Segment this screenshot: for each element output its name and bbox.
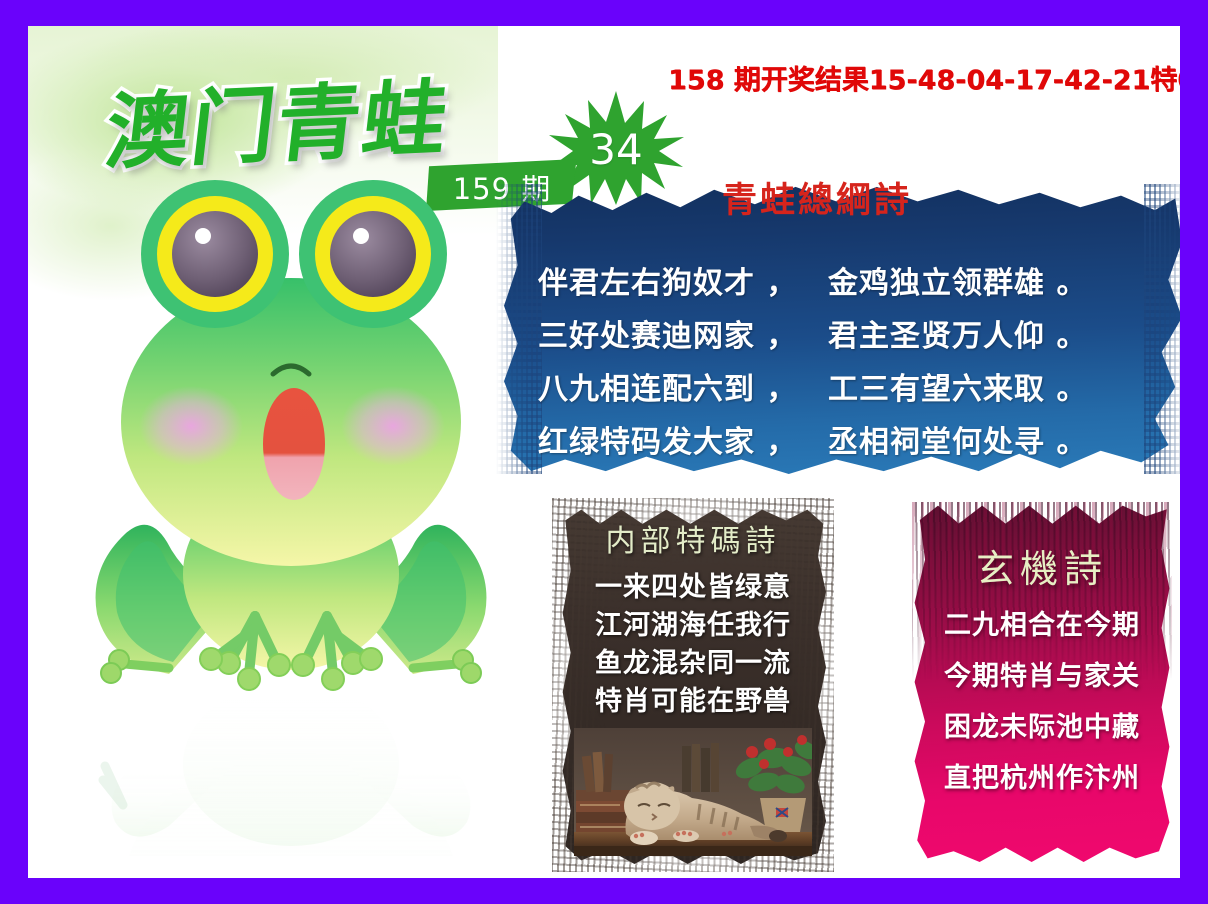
page-title: 澳门青蛙 (100, 51, 456, 186)
mystery-poem-panel: 玄機詩 二九相合在今期 今期特肖与家关 困龙未际池中藏 直把杭州作汴州 (896, 492, 1180, 878)
poem-line: 今期特肖与家关 (896, 651, 1180, 702)
poem-line: 鱼龙混杂同一流 (546, 645, 840, 683)
verse-row: 三好处赛迪网家 ， 君主圣贤万人仰 。 (538, 311, 1158, 355)
blue-panel-title: 青蛙總綱詩 (722, 172, 912, 223)
poem-line: 特肖可能在野兽 (546, 683, 840, 721)
poster-root: 158 期开奖结果15-48-04-17-42-21特05牛 澳门青蛙 34 1… (0, 0, 1208, 904)
verse-left: 八九相连配六到 ， (538, 364, 828, 408)
verse-row: 八九相连配六到 ， 工三有望六来取 。 (538, 364, 1158, 408)
poster-canvas: 158 期开奖结果15-48-04-17-42-21特05牛 澳门青蛙 34 1… (28, 26, 1180, 878)
lottery-result-line: 158 期开奖结果15-48-04-17-42-21特05牛 (668, 58, 1180, 97)
verse-row: 红绿特码发大家 ， 丞相祠堂何处寻 。 (538, 417, 1158, 461)
verse-row: 伴君左右狗奴才 ， 金鸡独立领群雄 。 (538, 258, 1158, 302)
verse-left: 红绿特码发大家 ， (538, 417, 828, 461)
poem-line: 二九相合在今期 (896, 600, 1180, 651)
inner-code-poem-panel: 内部特碼詩 一来四处皆绿意 江河湖海任我行 鱼龙混杂同一流 特肖可能在野兽 (546, 494, 840, 878)
dark-panel-lines: 一来四处皆绿意 江河湖海任我行 鱼龙混杂同一流 特肖可能在野兽 (546, 569, 840, 721)
poem-line: 一来四处皆绿意 (546, 569, 840, 607)
frog-mascot-illustration (63, 176, 533, 856)
verse-right: 丞相祠堂何处寻 。 (828, 417, 1128, 461)
pink-panel-lines: 二九相合在今期 今期特肖与家关 困龙未际池中藏 直把杭州作汴州 (896, 600, 1180, 804)
poem-line: 困龙未际池中藏 (896, 702, 1180, 753)
dark-panel-title: 内部特碼詩 (546, 516, 840, 560)
verse-left: 伴君左右狗奴才 ， (538, 258, 828, 302)
blue-panel-verses: 伴君左右狗奴才 ， 金鸡独立领群雄 。 三好处赛迪网家 ， 君主圣贤万人仰 。 … (538, 258, 1158, 470)
sleeping-cat-photo (574, 728, 812, 856)
pink-panel-title: 玄機詩 (896, 538, 1180, 593)
verse-right: 君主圣贤万人仰 。 (828, 311, 1128, 355)
verse-left: 三好处赛迪网家 ， (538, 311, 828, 355)
poem-line: 直把杭州作汴州 (896, 753, 1180, 804)
verse-right: 金鸡独立领群雄 。 (828, 258, 1128, 302)
poem-line: 江河湖海任我行 (546, 607, 840, 645)
verse-right: 工三有望六来取 。 (828, 364, 1128, 408)
